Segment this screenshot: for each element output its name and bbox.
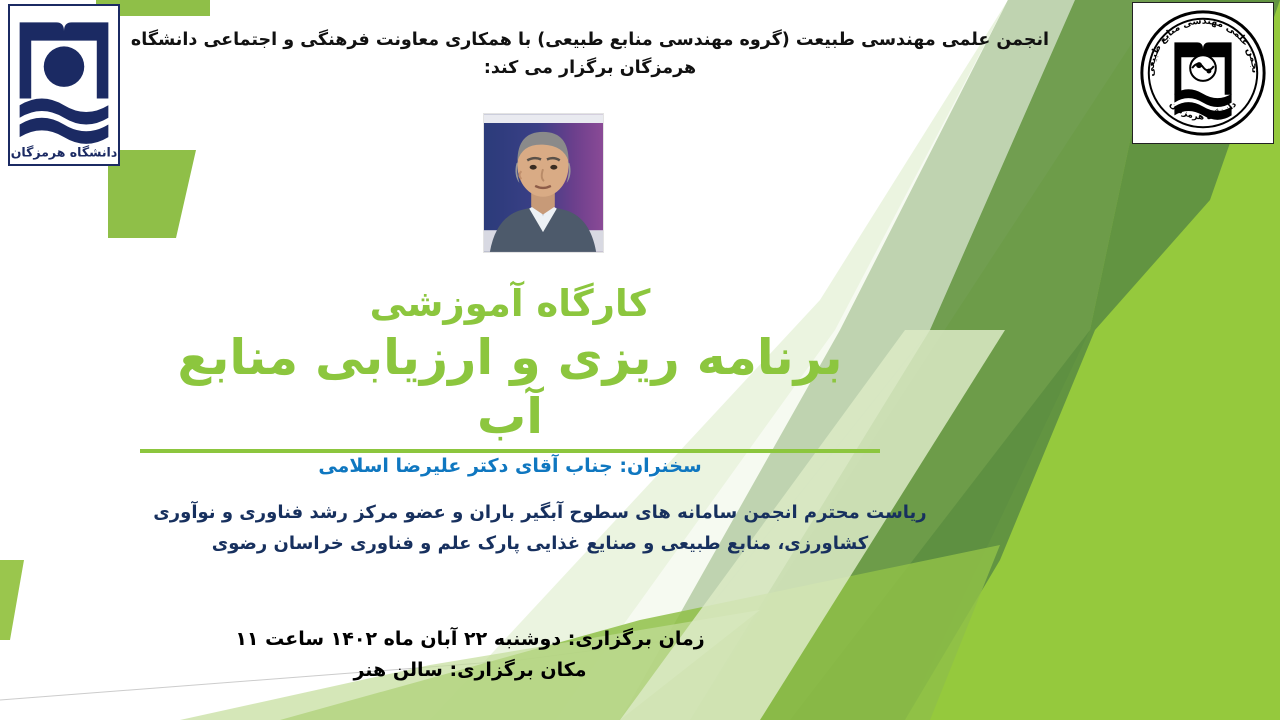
speaker-name: سخنران: جناب آقای دکتر علیرضا اسلامی	[140, 455, 880, 477]
speaker-bio: ریاست محترم انجمن سامانه های سطوح آبگیر …	[130, 498, 950, 560]
left-logo-caption: دانشگاه هرمزگان	[11, 144, 118, 159]
nature-engineering-association-seal: انجمن علمی مهندسی منابع طبیعی دانشگاه هر…	[1132, 2, 1274, 144]
university-of-hormozgan-logo: دانشگاه هرمزگان	[8, 4, 120, 166]
header-announcement: انجمن علمی مهندسی طبیعت (گروه مهندسی منا…	[120, 26, 1060, 83]
deco-accent-left-strip	[108, 150, 196, 238]
event-time: زمان برگزاری: دوشنبه ۲۲ آبان ماه ۱۴۰۲ سا…	[60, 624, 880, 655]
title-block: کارگاه آموزشی برنامه ریزی و ارزیابی مناب…	[140, 283, 880, 453]
workshop-title: برنامه ریزی و ارزیابی منابع آب	[140, 328, 880, 454]
event-details: زمان برگزاری: دوشنبه ۲۲ آبان ماه ۱۴۰۲ سا…	[60, 624, 880, 686]
event-place: مکان برگزاری: سالن هنر	[60, 655, 880, 686]
workshop-label: کارگاه آموزشی	[140, 283, 880, 326]
poster-canvas: دانشگاه هرمزگان انجمن علمی مهندسی منابع …	[0, 0, 1280, 720]
deco-accent-bottom-left	[0, 560, 24, 640]
speaker-portrait	[483, 113, 604, 253]
